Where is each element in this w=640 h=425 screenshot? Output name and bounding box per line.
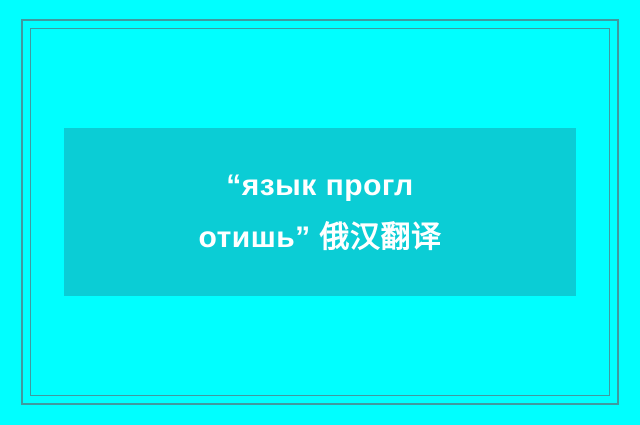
page-canvas: “язык прогл отишь” 俄汉翻译 — [0, 0, 640, 425]
title-banner: “язык прогл отишь” 俄汉翻译 — [64, 128, 576, 296]
banner-title-text: “язык прогл отишь” 俄汉翻译 — [171, 160, 470, 264]
